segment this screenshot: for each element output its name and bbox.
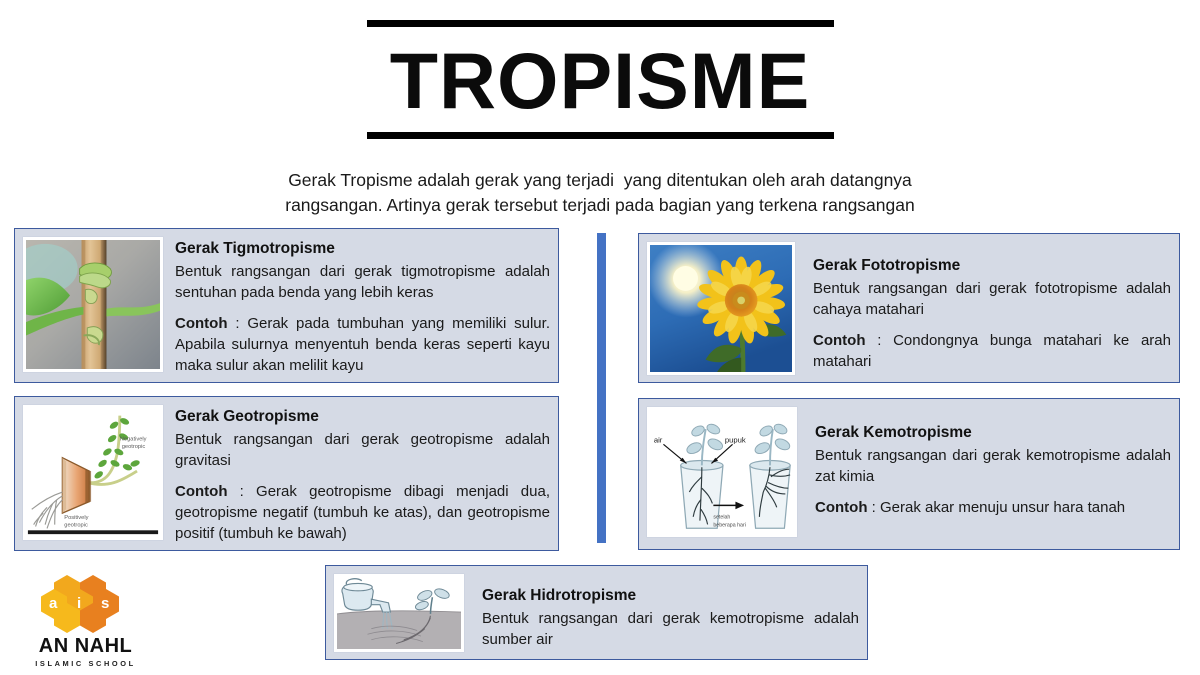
geotropisme-title: Gerak Geotropisme (175, 407, 550, 428)
subtitle: Gerak Tropisme adalah gerak yang terjadi… (0, 168, 1200, 219)
card-kemotropisme: air pupuk setelah beberapa hari (638, 398, 1180, 550)
kemotropisme-example: Contoh : Gerak akar menuju unsur hara ta… (815, 497, 1171, 518)
honeycomb-icon: a i s (34, 575, 126, 633)
geotropisme-definition: Bentuk rangsangan dari gerak geotropisme… (175, 429, 550, 472)
geotropisme-example: Contoh : Gerak geotropisme dibagi menjad… (175, 481, 550, 545)
geotropisme-image: Negatively geotropic Positively geotropi… (23, 405, 163, 540)
title-block: TROPISME (0, 0, 1200, 139)
logo-letter-a: a (49, 596, 57, 611)
fototropisme-text: Gerak Fototropisme Bentuk rangsangan dar… (795, 242, 1171, 372)
kemo-label-arrow: setelah (713, 515, 730, 521)
tendril-on-stake-art (26, 240, 160, 369)
glasses-seedling-diagram-art: air pupuk setelah beberapa hari (650, 410, 794, 534)
logo-name: AN NAHL (18, 635, 153, 658)
subtitle-line-1: Gerak Tropisme adalah gerak yang terjadi… (0, 168, 1200, 193)
sunflower-sun-art (650, 245, 792, 372)
hidrotropisme-text: Gerak Hidrotropisme Bentuk rangsangan da… (464, 574, 859, 651)
hidrotropisme-title: Gerak Hidrotropisme (482, 586, 859, 607)
kemotropisme-example-label: Contoh (815, 499, 867, 516)
svg-text:beberapa hari: beberapa hari (713, 522, 746, 528)
logo-tagline: ISLAMIC SCHOOL (18, 659, 153, 668)
kemo-label-pupuk: pupuk (725, 435, 746, 444)
subtitle-line-2: rangsangan. Artinya gerak tersebut terja… (0, 193, 1200, 218)
svg-text:geotropic: geotropic (64, 522, 88, 528)
card-fototropisme: Gerak Fototropisme Bentuk rangsangan dar… (638, 233, 1180, 383)
hidrotropisme-image (334, 574, 464, 652)
kemotropisme-text: Gerak Kemotropisme Bentuk rangsangan dar… (797, 407, 1171, 518)
title-rule-bottom (367, 132, 834, 139)
geotropisme-label-top: Negatively (120, 436, 147, 442)
tigmotropisme-image (23, 237, 163, 372)
geotropisme-example-label: Contoh (175, 483, 227, 500)
tigmotropisme-definition: Bentuk rangsangan dari gerak tigmotropis… (175, 261, 550, 304)
title-rule-top (367, 20, 834, 27)
kemotropisme-title: Gerak Kemotropisme (815, 423, 1171, 444)
fototropisme-example-label: Contoh (813, 332, 865, 349)
watering-can-seedling-art (337, 577, 461, 649)
fototropisme-title: Gerak Fototropisme (813, 256, 1171, 277)
card-geotropisme: Negatively geotropic Positively geotropi… (14, 396, 559, 551)
fototropisme-example-text: : Condongnya bunga matahari ke arah mata… (813, 332, 1171, 370)
vertical-divider (597, 233, 606, 543)
kemotropisme-example-text: : Gerak akar menuju unsur hara tanah (867, 499, 1125, 516)
logo-letter-s: s (101, 596, 109, 611)
tigmotropisme-example-text: : Gerak pada tumbuhan yang memiliki sulu… (175, 315, 550, 375)
fototropisme-example: Contoh : Condongnya bunga matahari ke ar… (813, 330, 1171, 373)
geotropisme-example-text: : Gerak geotropisme dibagi menjadi dua, … (175, 483, 550, 543)
tigmotropisme-example: Contoh : Gerak pada tumbuhan yang memili… (175, 313, 550, 377)
geotropism-pot-diagram-art: Negatively geotropic Positively geotropi… (26, 408, 160, 537)
hidrotropisme-definition: Bentuk rangsangan dari gerak kemotropism… (482, 608, 859, 651)
logo-letter-i: i (77, 596, 81, 611)
kemotropisme-definition: Bentuk rangsangan dari gerak kemotropism… (815, 445, 1171, 488)
svg-text:geotropic: geotropic (122, 444, 146, 450)
card-tigmotropisme: Gerak Tigmotropisme Bentuk rangsangan da… (14, 228, 559, 383)
tigmotropisme-title: Gerak Tigmotropisme (175, 239, 550, 260)
tigmotropisme-text: Gerak Tigmotropisme Bentuk rangsangan da… (163, 237, 550, 376)
school-logo: a i s AN NAHL ISLAMIC SCHOOL (18, 575, 153, 665)
geotropisme-label-bottom: Positively (64, 515, 88, 521)
fototropisme-image (647, 242, 795, 375)
fototropisme-definition: Bentuk rangsangan dari gerak fototropism… (813, 278, 1171, 321)
card-hidrotropisme: Gerak Hidrotropisme Bentuk rangsangan da… (325, 565, 868, 660)
page-title: TROPISME (0, 41, 1200, 120)
geotropisme-text: Gerak Geotropisme Bentuk rangsangan dari… (163, 405, 550, 544)
tigmotropisme-example-label: Contoh (175, 315, 227, 332)
kemotropisme-image: air pupuk setelah beberapa hari (647, 407, 797, 537)
kemo-label-air: air (654, 435, 663, 444)
